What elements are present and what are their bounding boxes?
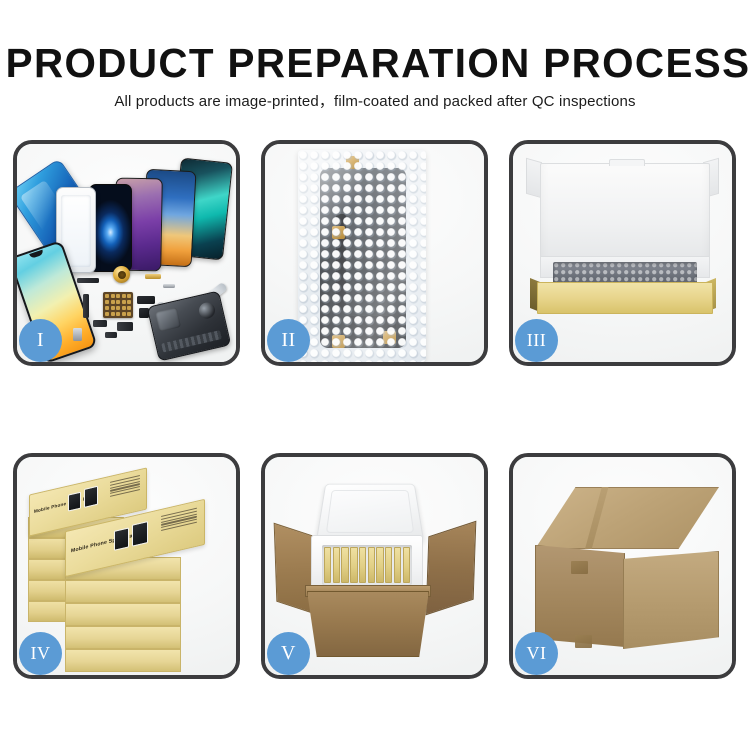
connector-pad-part: [103, 292, 133, 318]
stacked-box: [65, 580, 181, 603]
part-sim-tray: [73, 328, 82, 341]
bag-sheen: [298, 150, 426, 362]
carton-flap-right: [426, 521, 477, 616]
box-label-screen-image: [84, 486, 98, 508]
step-panel-3: III: [509, 140, 736, 366]
box-label-screen-image: [114, 527, 129, 550]
product-preparation-infographic: PRODUCT PREPARATION PROCESS All products…: [0, 0, 750, 750]
part-gold-bracket: [145, 274, 161, 279]
step-panel-4: Mobile Phone Spare Parts Mobile Phone Sp…: [13, 453, 240, 679]
step-badge-5: V: [267, 632, 310, 675]
header: PRODUCT PREPARATION PROCESS All products…: [0, 0, 750, 112]
part-connector: [93, 320, 107, 327]
step-badge-1: I: [19, 319, 62, 362]
carton-tape-lower: [575, 635, 592, 648]
sealed-carton-right-face: [623, 551, 719, 649]
carton-tape-upper: [571, 561, 588, 574]
mailer-front-panel: [537, 282, 713, 314]
part-vibrator: [105, 332, 117, 338]
foam-cavity-with-boxes: [322, 545, 412, 585]
process-step-grid: I II: [13, 140, 737, 679]
part-flex-strip: [77, 278, 99, 283]
sealed-carton-top: [535, 487, 719, 549]
part-flex-cable: [83, 294, 89, 318]
step-badge-4: IV: [19, 632, 62, 675]
stacked-box: [65, 603, 181, 626]
page-subtitle: All products are image-printed，film-coat…: [0, 92, 750, 112]
chassis-detail: [161, 330, 221, 352]
part-camera-module: [117, 322, 133, 331]
box-label-title: Mobile Phone Spare Parts: [71, 531, 140, 554]
page-title: PRODUCT PREPARATION PROCESS: [6, 41, 745, 85]
step-panel-1: I: [13, 140, 240, 366]
foam-box-lid: [316, 484, 424, 542]
box-label-screen-image: [68, 492, 81, 512]
box-label-spec-lines: [110, 475, 140, 497]
stacked-box: [65, 649, 181, 672]
box-label-screen-image: [132, 521, 148, 547]
part-silver-clip: [163, 284, 175, 288]
step-panel-6: VI: [509, 453, 736, 679]
step-badge-2: II: [267, 319, 310, 362]
carton-body: [307, 591, 429, 657]
step-badge-3: III: [515, 319, 558, 362]
bubble-wrap-bag: [298, 150, 426, 362]
step-badge-6: VI: [515, 632, 558, 675]
step-panel-5: V: [261, 453, 488, 679]
stacked-box: [65, 626, 181, 649]
step-panel-2: II: [261, 140, 488, 366]
box-label-spec-lines: [161, 508, 197, 531]
part-ic-chip: [137, 296, 155, 304]
speaker-coil-part: [113, 266, 130, 283]
